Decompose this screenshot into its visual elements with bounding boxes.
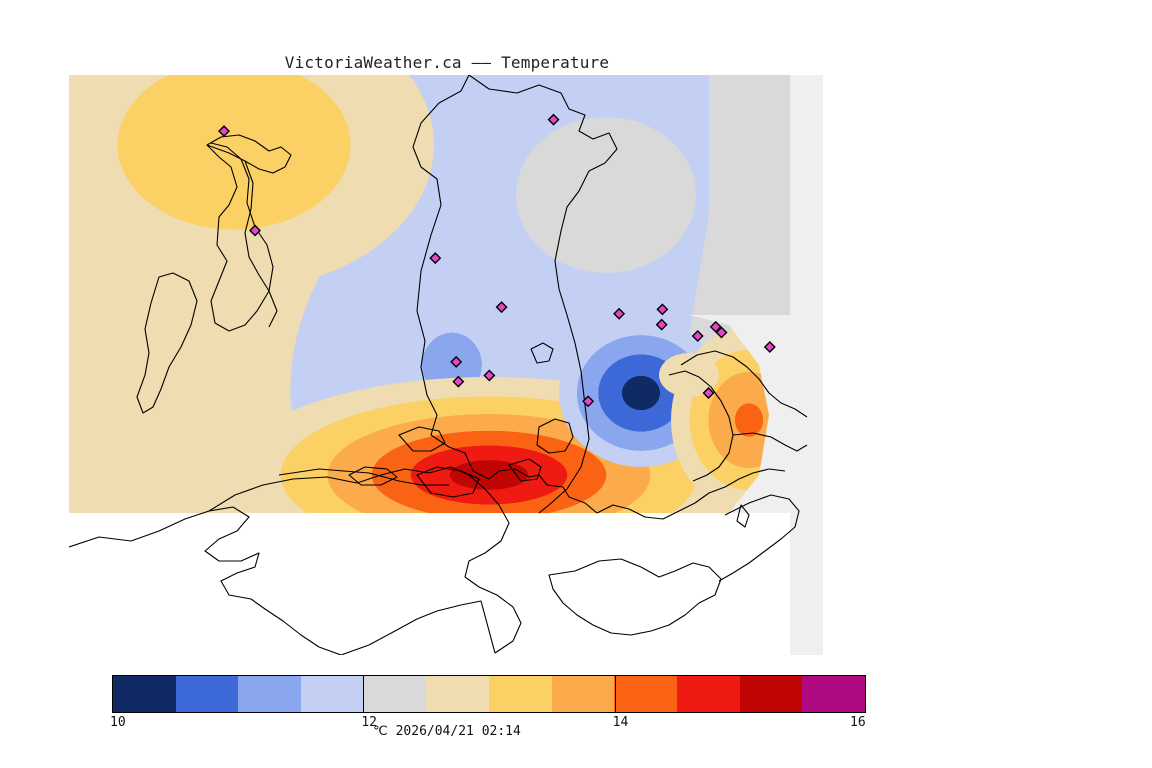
colorbar-cell-7 [552,676,615,712]
colorbar-units-and-timestamp: ℃ 2026/04/21 02:14 [0,724,894,739]
contour-cell-grey-island [516,117,696,273]
below-data-area [69,513,790,655]
colorbar-separator-14 [615,675,616,713]
page-title: VictoriaWeather.ca —— Temperature [0,53,894,72]
temperature-contour-map[interactable] [69,75,823,655]
map-panel[interactable] [69,75,823,655]
colorbar-cell-10 [740,676,803,712]
right-margin-area [790,75,823,655]
colorbar-cell-4 [364,676,427,712]
colorbar-cell-6 [489,676,552,712]
colorbar-cell-1 [176,676,239,712]
colorbar-cell-8 [614,676,677,712]
weather-map-page: VictoriaWeather.ca —— Temperature [0,0,1152,768]
colorbar-cell-5 [426,676,489,712]
colorbar-cell-11 [802,676,865,712]
colorbar: 10121416 [112,675,866,715]
colorbar-cell-0 [113,676,176,712]
colorbar-cell-2 [238,676,301,712]
colorbar-separator-12 [363,675,364,713]
colorbar-gradient [112,675,866,713]
contour-field [69,75,823,573]
colorbar-cell-3 [301,676,364,712]
colorbar-cell-9 [677,676,740,712]
